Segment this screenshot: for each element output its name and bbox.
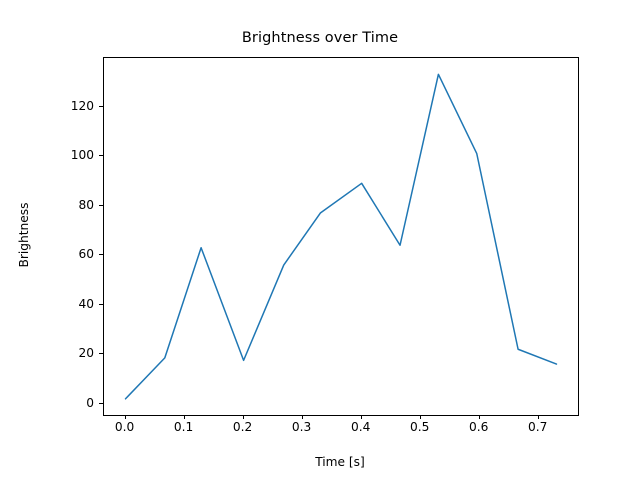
y-tick-mark: [99, 353, 103, 354]
y-tick-mark: [99, 205, 103, 206]
plot-axes-area: [103, 57, 579, 416]
x-tick-mark: [420, 415, 421, 419]
y-tick-label: 40: [55, 297, 94, 311]
x-tick-label: 0.4: [351, 420, 370, 434]
y-tick-label: 100: [55, 148, 94, 162]
chart-title: Brightness over Time: [0, 30, 640, 46]
y-tick-label: 80: [55, 198, 94, 212]
x-tick-mark: [479, 415, 480, 419]
x-tick-mark: [243, 415, 244, 419]
x-tick-label: 0.0: [115, 420, 134, 434]
x-axis-label: Time [s]: [103, 455, 577, 469]
x-tick-mark: [302, 415, 303, 419]
y-tick-mark: [99, 254, 103, 255]
y-axis-label: Brightness: [17, 203, 31, 268]
y-tick-label: 120: [55, 99, 94, 113]
y-tick-mark: [99, 106, 103, 107]
y-tick-label: 60: [55, 247, 94, 261]
y-tick-mark: [99, 304, 103, 305]
y-tick-mark: [99, 403, 103, 404]
x-tick-label: 0.1: [174, 420, 193, 434]
x-tick-mark: [184, 415, 185, 419]
x-tick-label: 0.3: [292, 420, 311, 434]
x-tick-mark: [125, 415, 126, 419]
x-tick-mark: [538, 415, 539, 419]
y-tick-label: 20: [55, 346, 94, 360]
y-tick-mark: [99, 155, 103, 156]
x-tick-label: 0.6: [469, 420, 488, 434]
brightness-line-series: [126, 74, 557, 398]
x-tick-label: 0.2: [233, 420, 252, 434]
y-tick-label: 0: [55, 396, 94, 410]
x-tick-label: 0.5: [410, 420, 429, 434]
x-tick-mark: [361, 415, 362, 419]
matplotlib-figure: Brightness over Time 0.00.10.20.30.40.50…: [0, 0, 640, 480]
x-tick-label: 0.7: [528, 420, 547, 434]
data-line-plot: [104, 58, 578, 415]
